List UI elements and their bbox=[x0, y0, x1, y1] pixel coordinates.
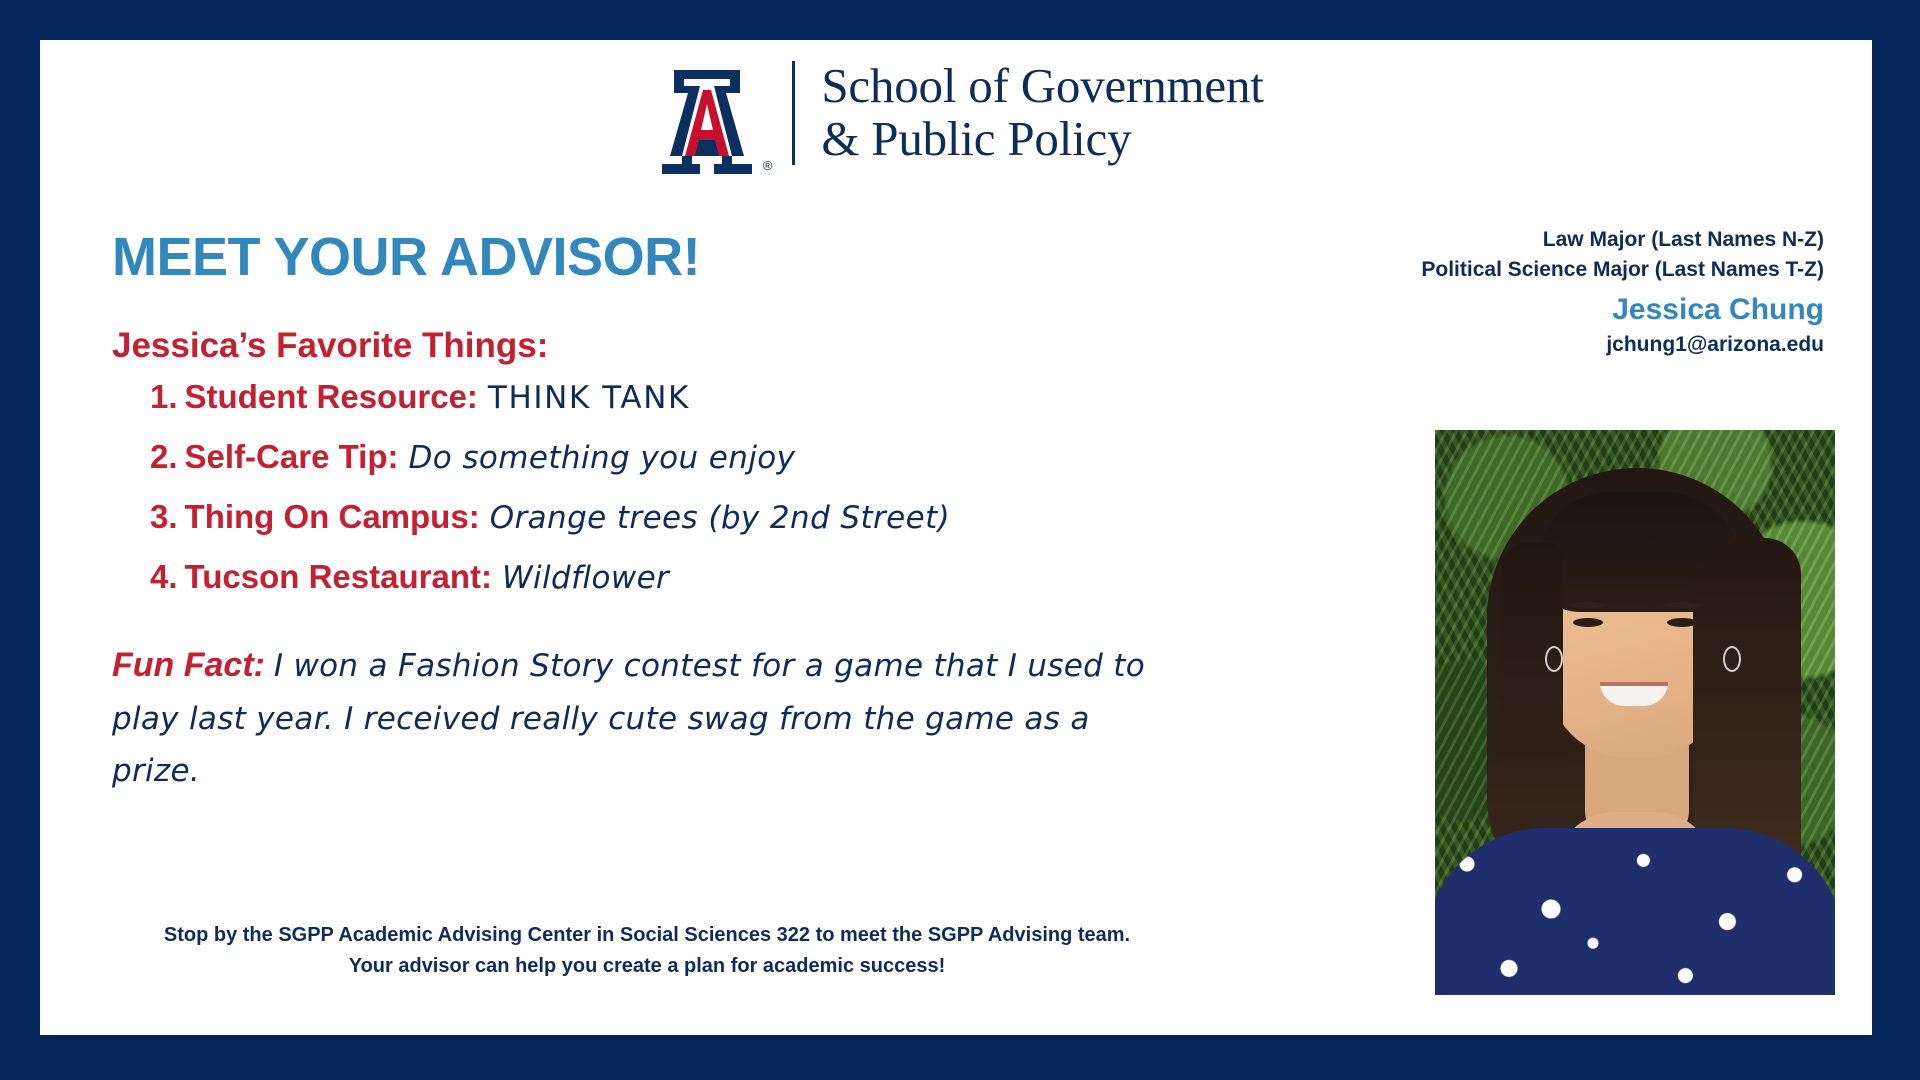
list-item: 1.Student Resource:THINK TANK bbox=[150, 380, 1210, 414]
list-item-label: Tucson Restaurant: bbox=[185, 558, 492, 595]
logo-divider-rule bbox=[792, 61, 795, 165]
list-item-number: 2. bbox=[150, 438, 178, 475]
list-item-label: Thing On Campus: bbox=[185, 498, 480, 535]
favorites-list: 1.Student Resource:THINK TANK 2.Self-Car… bbox=[150, 380, 1210, 620]
photo-earring-left bbox=[1545, 646, 1563, 672]
logo-wordmark-line1: School of Government bbox=[821, 60, 1263, 113]
list-item-number: 1. bbox=[150, 378, 178, 415]
advisor-name: Jessica Chung bbox=[1264, 290, 1824, 330]
advisor-contact-block: Law Major (Last Names N-Z) Political Sci… bbox=[1264, 225, 1824, 360]
list-item-number: 4. bbox=[150, 558, 178, 595]
photo-eyebrow-left bbox=[1570, 602, 1606, 608]
photo-eye-right bbox=[1667, 618, 1697, 627]
advisor-email[interactable]: jchung1@arizona.edu bbox=[1264, 330, 1824, 360]
brand-lockup: ® School of Government & Public Policy bbox=[40, 52, 1872, 174]
photo-floral-dress bbox=[1435, 828, 1835, 995]
list-item-answer: Do something you enjoy bbox=[408, 440, 795, 476]
list-item-answer: THINK TANK bbox=[488, 380, 690, 416]
fun-fact-block: Fun Fact: I won a Fashion Story contest … bbox=[112, 638, 1182, 797]
list-item: 3.Thing On Campus:Orange trees (by 2nd S… bbox=[150, 500, 1210, 534]
list-item: 4.Tucson Restaurant:Wildflower bbox=[150, 560, 1210, 594]
advisor-role-line1: Law Major (Last Names N-Z) bbox=[1264, 225, 1824, 255]
list-item-number: 3. bbox=[150, 498, 178, 535]
logo-wordmark: School of Government & Public Policy bbox=[821, 60, 1263, 166]
list-item: 2.Self-Care Tip:Do something you enjoy bbox=[150, 440, 1210, 474]
brand-lockup-inner: ® School of Government & Public Policy bbox=[648, 52, 1263, 174]
logo-wordmark-line2: & Public Policy bbox=[821, 113, 1263, 166]
flyer-content-card: ® School of Government & Public Policy M… bbox=[40, 40, 1872, 1035]
list-item-label: Student Resource: bbox=[185, 378, 478, 415]
fun-fact-label: Fun Fact: bbox=[112, 646, 265, 684]
registered-trademark-icon: ® bbox=[763, 159, 773, 172]
university-of-arizona-block-a-icon: ® bbox=[648, 52, 766, 174]
footer-note: Stop by the SGPP Academic Advising Cente… bbox=[112, 920, 1182, 982]
list-item-label: Self-Care Tip: bbox=[185, 438, 399, 475]
favorites-heading: Jessica’s Favorite Things: bbox=[112, 328, 548, 363]
page-title: MEET YOUR ADVISOR! bbox=[112, 230, 700, 284]
photo-eye-left bbox=[1573, 618, 1603, 627]
fun-fact-text: I won a Fashion Story contest for a game… bbox=[112, 648, 1145, 789]
advisor-photo bbox=[1435, 430, 1835, 995]
list-item-answer: Wildflower bbox=[502, 560, 669, 596]
advisor-role-line2: Political Science Major (Last Names T-Z) bbox=[1264, 255, 1824, 285]
photo-eyebrow-right bbox=[1664, 602, 1700, 608]
advisor-flyer-slide: ® School of Government & Public Policy M… bbox=[0, 0, 1920, 1080]
footer-note-line1: Stop by the SGPP Academic Advising Cente… bbox=[112, 920, 1182, 951]
photo-earring-right bbox=[1723, 646, 1741, 672]
footer-note-line2: Your advisor can help you create a plan … bbox=[112, 951, 1182, 982]
list-item-answer: Orange trees (by 2nd Street) bbox=[490, 500, 951, 536]
